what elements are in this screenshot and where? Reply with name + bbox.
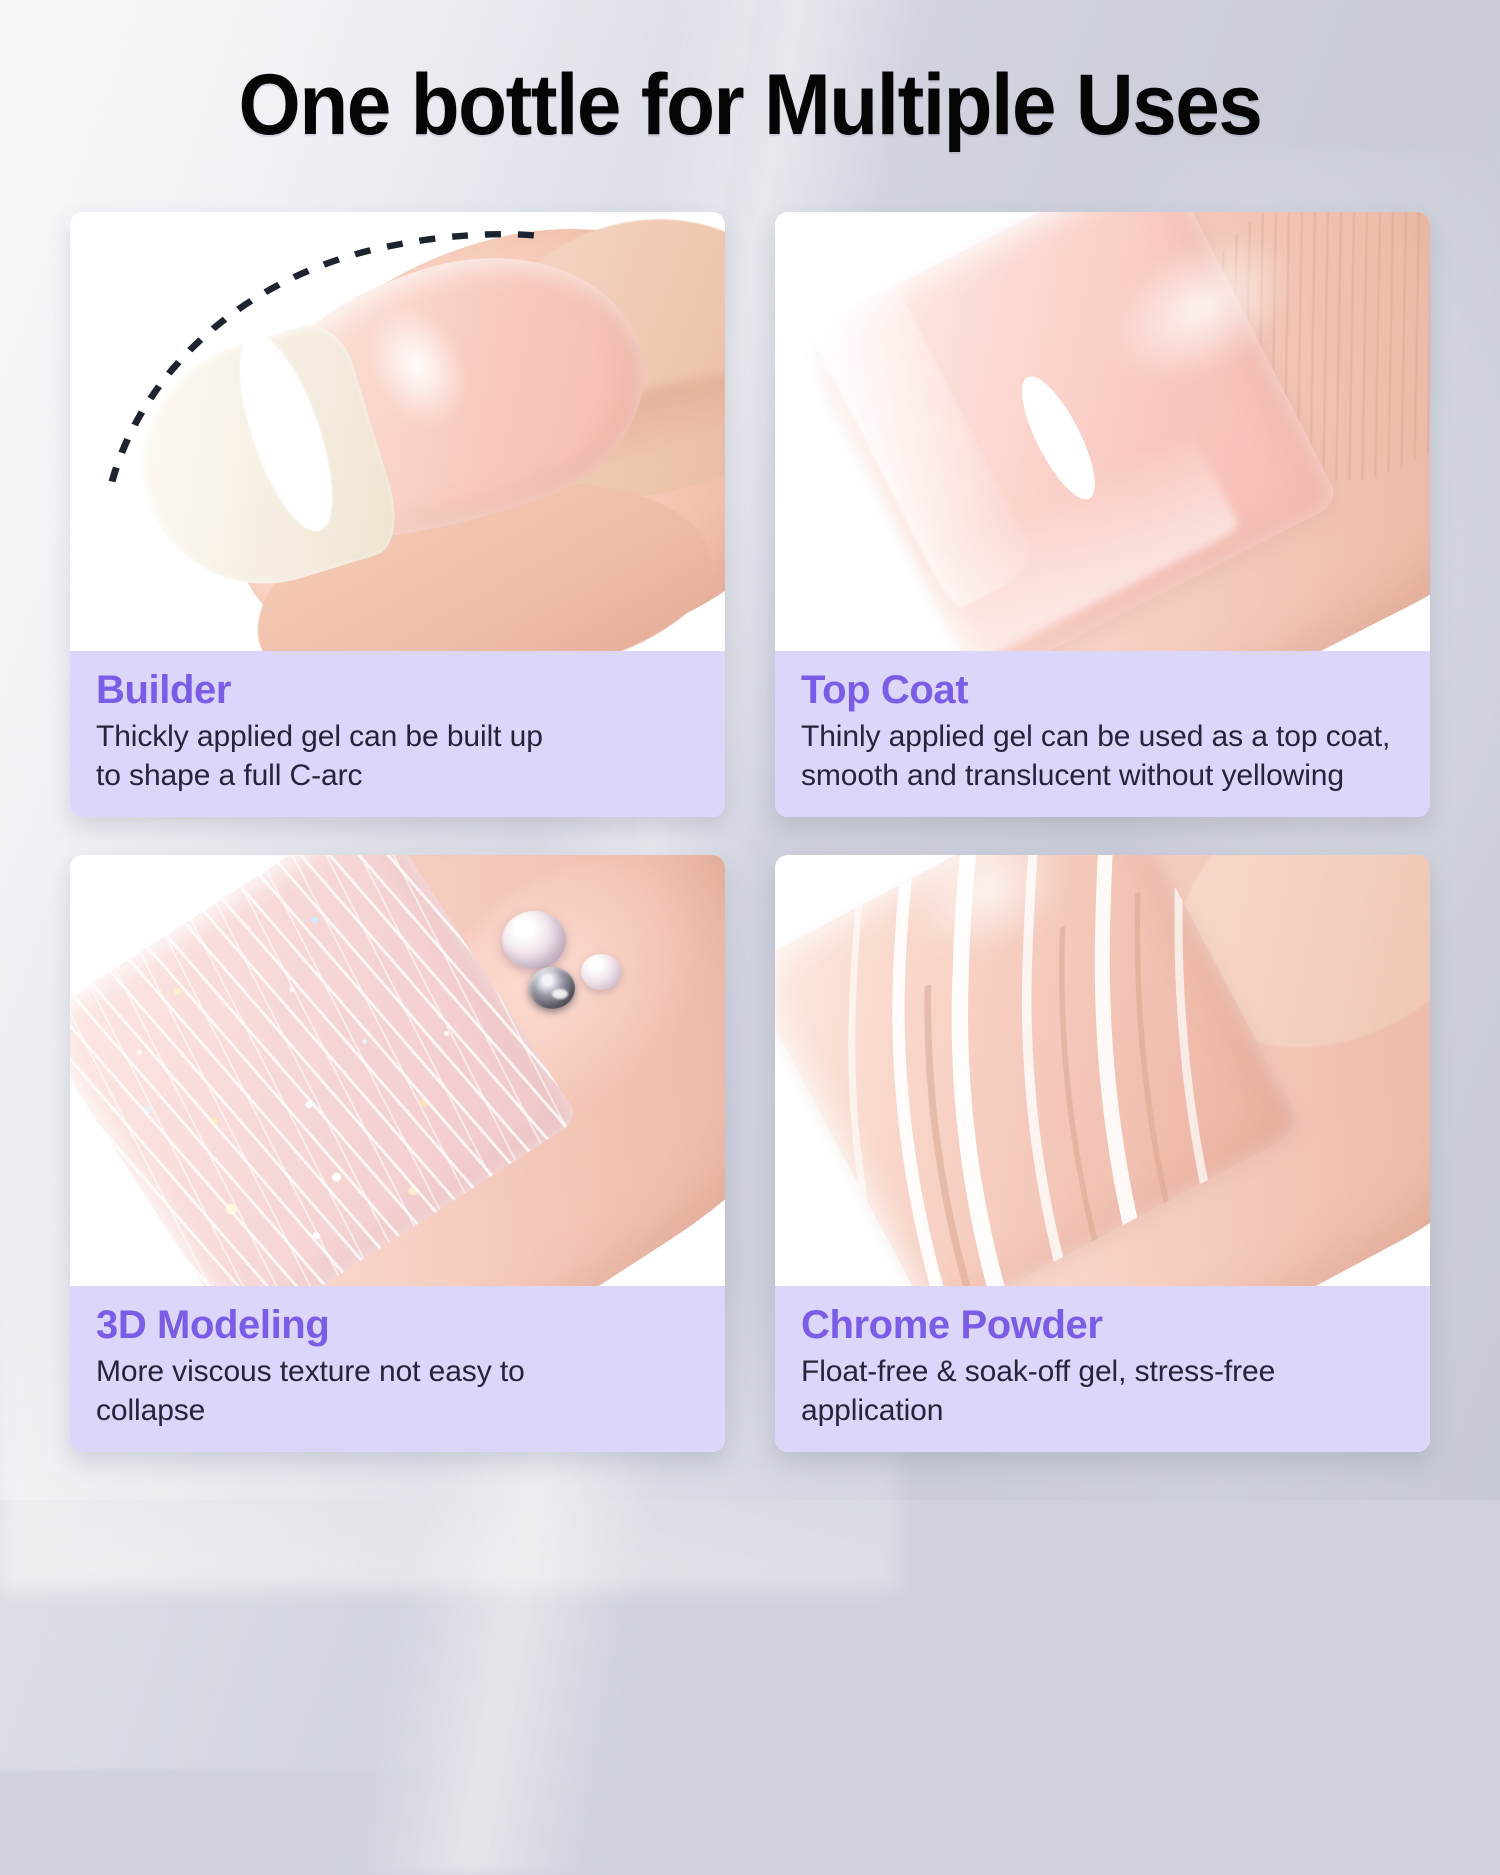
pearl-bead-large [502, 911, 566, 969]
page-title: One bottle for Multiple Uses [53, 62, 1448, 148]
builder-body-text: Thickly applied gel can be built up to s… [96, 717, 699, 795]
builder-caption: Builder Thickly applied gel can be built… [70, 651, 725, 817]
builder-heading: Builder [96, 669, 699, 711]
feature-card-grid: Builder Thickly applied gel can be built… [70, 212, 1430, 1452]
top-coat-caption: Top Coat Thinly applied gel can be used … [775, 651, 1430, 817]
builder-photo [70, 212, 725, 651]
top-coat-photo [775, 212, 1430, 651]
three-d-modeling-caption: 3D Modeling More viscous texture not eas… [70, 1286, 725, 1452]
c-arc-dashed-guide-icon [70, 212, 725, 651]
three-d-modeling-photo [70, 855, 725, 1286]
chrome-powder-caption: Chrome Powder Float-free & soak-off gel,… [775, 1286, 1430, 1452]
three-d-modeling-heading: 3D Modeling [96, 1304, 699, 1346]
chrome-powder-body-text: Float-free & soak-off gel, stress-free a… [801, 1352, 1404, 1430]
feature-card-chrome-powder[interactable]: Chrome Powder Float-free & soak-off gel,… [775, 855, 1430, 1452]
pearl-bead-small [581, 954, 621, 990]
chrome-powder-heading: Chrome Powder [801, 1304, 1404, 1346]
chrome-powder-photo [775, 855, 1430, 1286]
rhinestone-gem [529, 967, 575, 1009]
top-coat-heading: Top Coat [801, 669, 1404, 711]
feature-card-top-coat[interactable]: Top Coat Thinly applied gel can be used … [775, 212, 1430, 817]
three-d-modeling-body-text: More viscous texture not easy to collaps… [96, 1352, 699, 1430]
top-coat-body-text: Thinly applied gel can be used as a top … [801, 717, 1404, 795]
feature-card-3d-modeling[interactable]: 3D Modeling More viscous texture not eas… [70, 855, 725, 1452]
feature-card-builder[interactable]: Builder Thickly applied gel can be built… [70, 212, 725, 817]
